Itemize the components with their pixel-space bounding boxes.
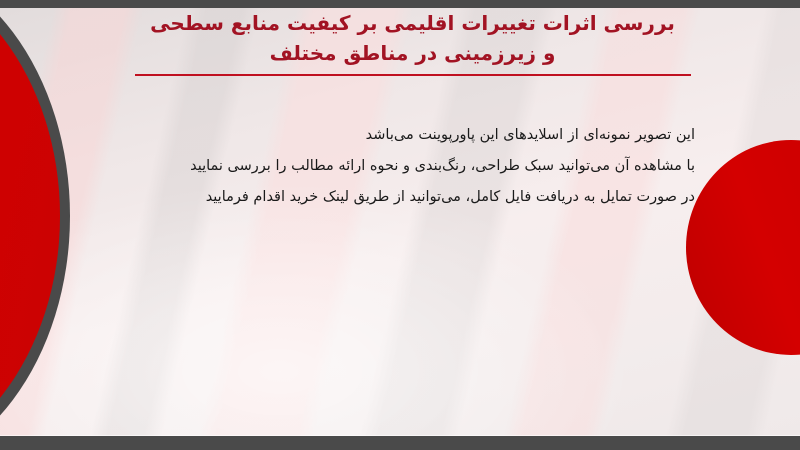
title-divider-rule — [135, 74, 691, 76]
presentation-slide: بررسی اثرات تغییرات اقلیمی بر کیفیت مناب… — [0, 0, 800, 450]
slide-title-line-1: بررسی اثرات تغییرات اقلیمی بر کیفیت مناب… — [130, 8, 695, 38]
bottom-frame-band — [0, 436, 800, 450]
slide-title: بررسی اثرات تغییرات اقلیمی بر کیفیت مناب… — [130, 8, 695, 76]
slide-body-line-3: در صورت تمایل به دریافت فایل کامل، می‌تو… — [95, 182, 695, 213]
slide-body: این تصویر نمونه‌ای از اسلایدهای این پاور… — [95, 120, 695, 214]
slide-title-line-2: و زیرزمینی در مناطق مختلف — [130, 38, 695, 68]
slide-body-line-1: این تصویر نمونه‌ای از اسلایدهای این پاور… — [95, 120, 695, 151]
slide-body-line-2: با مشاهده آن می‌توانید سبک طراحی، رنگ‌بن… — [95, 151, 695, 182]
